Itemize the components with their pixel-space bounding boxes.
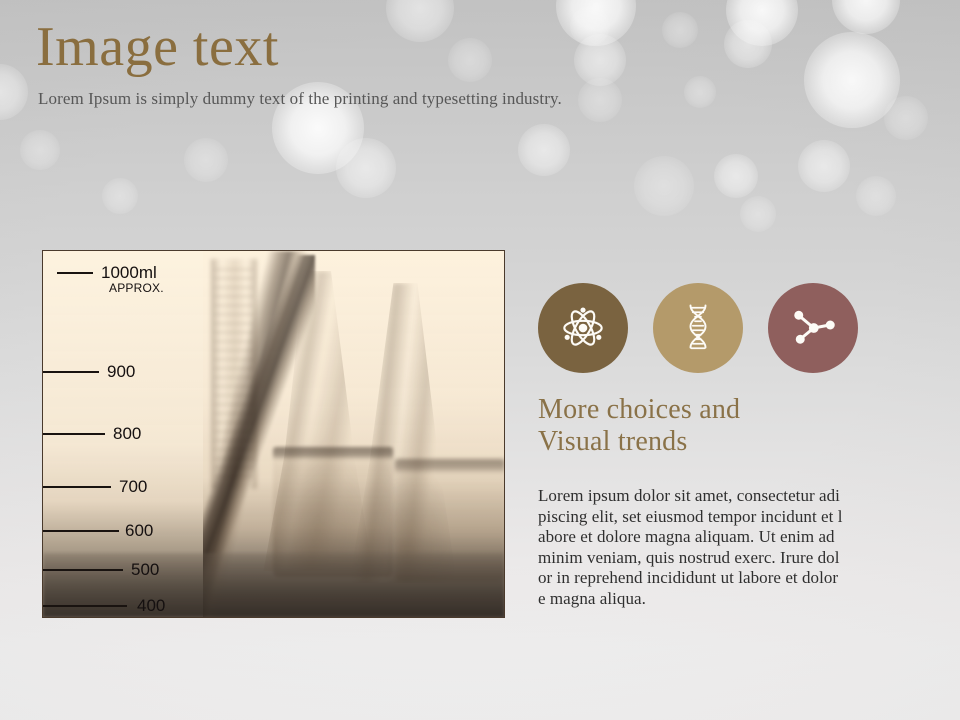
icon-row	[538, 283, 878, 375]
body-text-line: abore et dolore magna aliquam. Ut enim a…	[538, 527, 910, 548]
bokeh-circle	[798, 140, 850, 192]
graduation-label: 600	[125, 521, 153, 541]
beaker-graduation-scale: 1000mlAPPROX.900800700600500400	[43, 251, 203, 617]
bokeh-circle	[184, 138, 228, 182]
bokeh-circle	[20, 130, 60, 170]
graduation-label: 500	[131, 560, 159, 580]
graduation-sublabel: APPROX.	[109, 281, 164, 295]
graduation-label: 700	[119, 477, 147, 497]
graduation-label: 1000ml	[101, 263, 157, 283]
page-title: Image text	[36, 16, 736, 78]
graduation-line	[57, 272, 93, 274]
section-body-text: Lorem ipsum dolor sit amet, consectetur …	[538, 486, 910, 609]
graduation-line	[43, 371, 99, 373]
bokeh-circle	[856, 176, 896, 216]
page-subtitle: Lorem Ipsum is simply dummy text of the …	[38, 88, 736, 110]
dna-icon-button[interactable]	[653, 283, 743, 373]
header-block: Image text Lorem Ipsum is simply dummy t…	[36, 16, 736, 110]
molecule-icon	[789, 307, 837, 349]
slide-canvas: Image text Lorem Ipsum is simply dummy t…	[0, 0, 960, 720]
body-text-line: piscing elit, set eiusmod tempor incidun…	[538, 507, 910, 528]
lab-photo: 1000mlAPPROX.900800700600500400	[42, 250, 505, 618]
graduation-line	[43, 569, 123, 571]
bokeh-circle	[804, 32, 900, 128]
molecule-icon-button[interactable]	[768, 283, 858, 373]
bokeh-circle	[336, 138, 396, 198]
dna-icon	[678, 304, 718, 352]
bokeh-circle	[518, 124, 570, 176]
section-heading-line-2: Visual trends	[538, 426, 918, 458]
body-text-line: or in reprehend incididunt ut labore et …	[538, 568, 910, 589]
bokeh-circle	[740, 196, 776, 232]
bokeh-circle	[884, 96, 928, 140]
graduation-line	[43, 486, 111, 488]
bokeh-circle	[726, 0, 798, 46]
bokeh-circle	[714, 154, 758, 198]
graduation-label: 800	[113, 424, 141, 444]
atom-icon	[560, 305, 606, 351]
graduation-line	[43, 530, 119, 532]
bokeh-circle	[0, 64, 28, 120]
atom-icon-button[interactable]	[538, 283, 628, 373]
graduation-label: 400	[137, 596, 165, 616]
body-text-line: e magna aliqua.	[538, 589, 910, 610]
body-text-line: minim veniam, quis nostrud exerc. Irure …	[538, 548, 910, 569]
graduation-label: 900	[107, 362, 135, 382]
body-text-line: Lorem ipsum dolor sit amet, consectetur …	[538, 486, 910, 507]
section-heading-line-1: More choices and	[538, 394, 918, 426]
graduation-line	[43, 433, 105, 435]
graduation-line	[43, 605, 127, 607]
photo-canvas: 1000mlAPPROX.900800700600500400	[43, 251, 504, 617]
bokeh-circle	[634, 156, 694, 216]
section-heading: More choices and Visual trends	[538, 394, 918, 458]
bokeh-circle	[102, 178, 138, 214]
bokeh-circle	[832, 0, 900, 34]
